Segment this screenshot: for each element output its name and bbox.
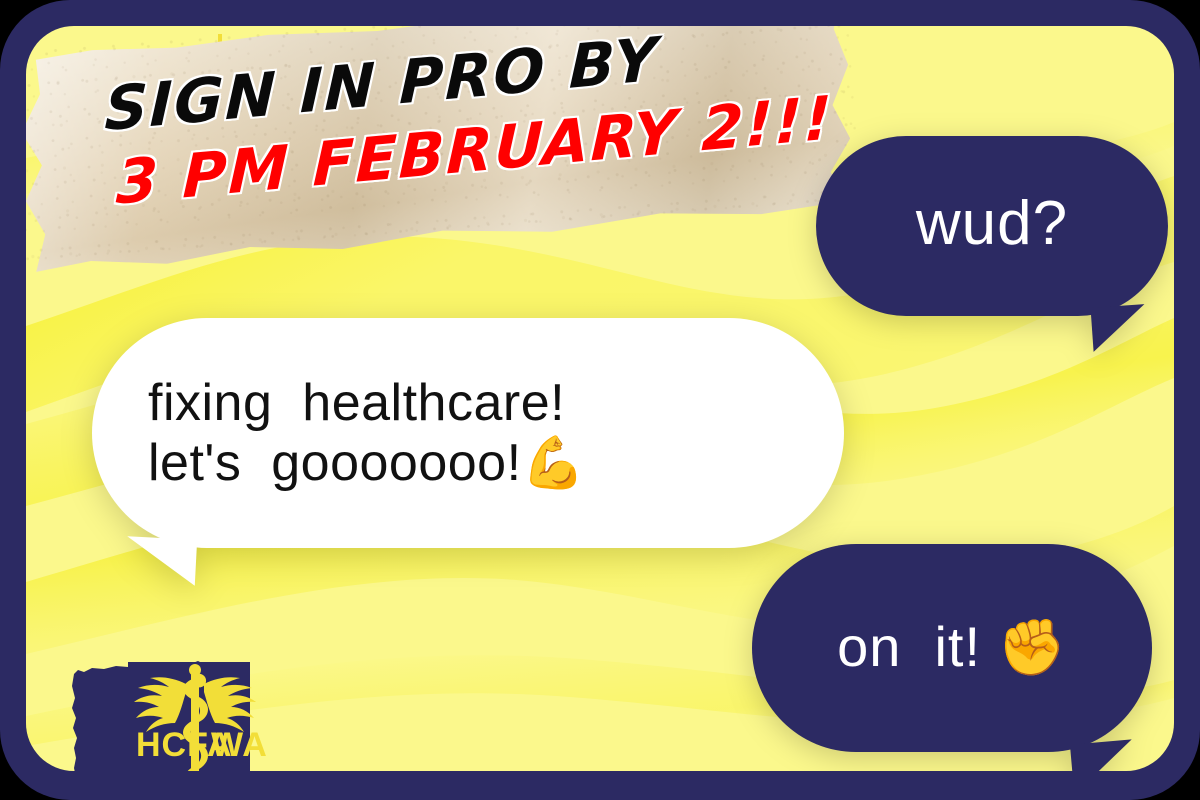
promo-card: SIGN IN PRO BY 3 PM FEBRUARY 2!!! wud? f… — [0, 0, 1200, 800]
raised-fist-emoji: ✊ — [998, 615, 1067, 679]
speech-bubble-tail — [125, 536, 197, 586]
speech-bubble-tail — [1091, 304, 1148, 352]
speech-bubble-tail — [1070, 739, 1136, 771]
speech-bubble-wud-text: wud? — [916, 191, 1068, 261]
onit-label: on it! — [837, 615, 998, 678]
logo-svg: HCFA WA — [70, 648, 320, 771]
speech-bubble-onit: on it! ✊ — [752, 544, 1152, 752]
hcfa-wa-logo: HCFA WA — [70, 648, 320, 771]
masking-tape-banner: SIGN IN PRO BY 3 PM FEBRUARY 2!!! — [26, 26, 863, 277]
speech-bubble-main: fixing healthcare!let's gooooooo!💪 — [92, 318, 844, 548]
speech-bubble-onit-text: on it! ✊ — [837, 617, 1067, 678]
speech-bubble-main-text: fixing healthcare!let's gooooooo!💪 — [92, 373, 586, 494]
main-line-1: fixing healthcare! — [148, 374, 565, 432]
speech-bubble-wud: wud? — [816, 136, 1168, 316]
card-canvas: SIGN IN PRO BY 3 PM FEBRUARY 2!!! wud? f… — [26, 26, 1174, 771]
flexed-biceps-emoji: 💪 — [522, 434, 586, 493]
logo-wordmark-wa: WA — [211, 726, 268, 764]
main-line-2: let's gooooooo! — [148, 434, 522, 492]
